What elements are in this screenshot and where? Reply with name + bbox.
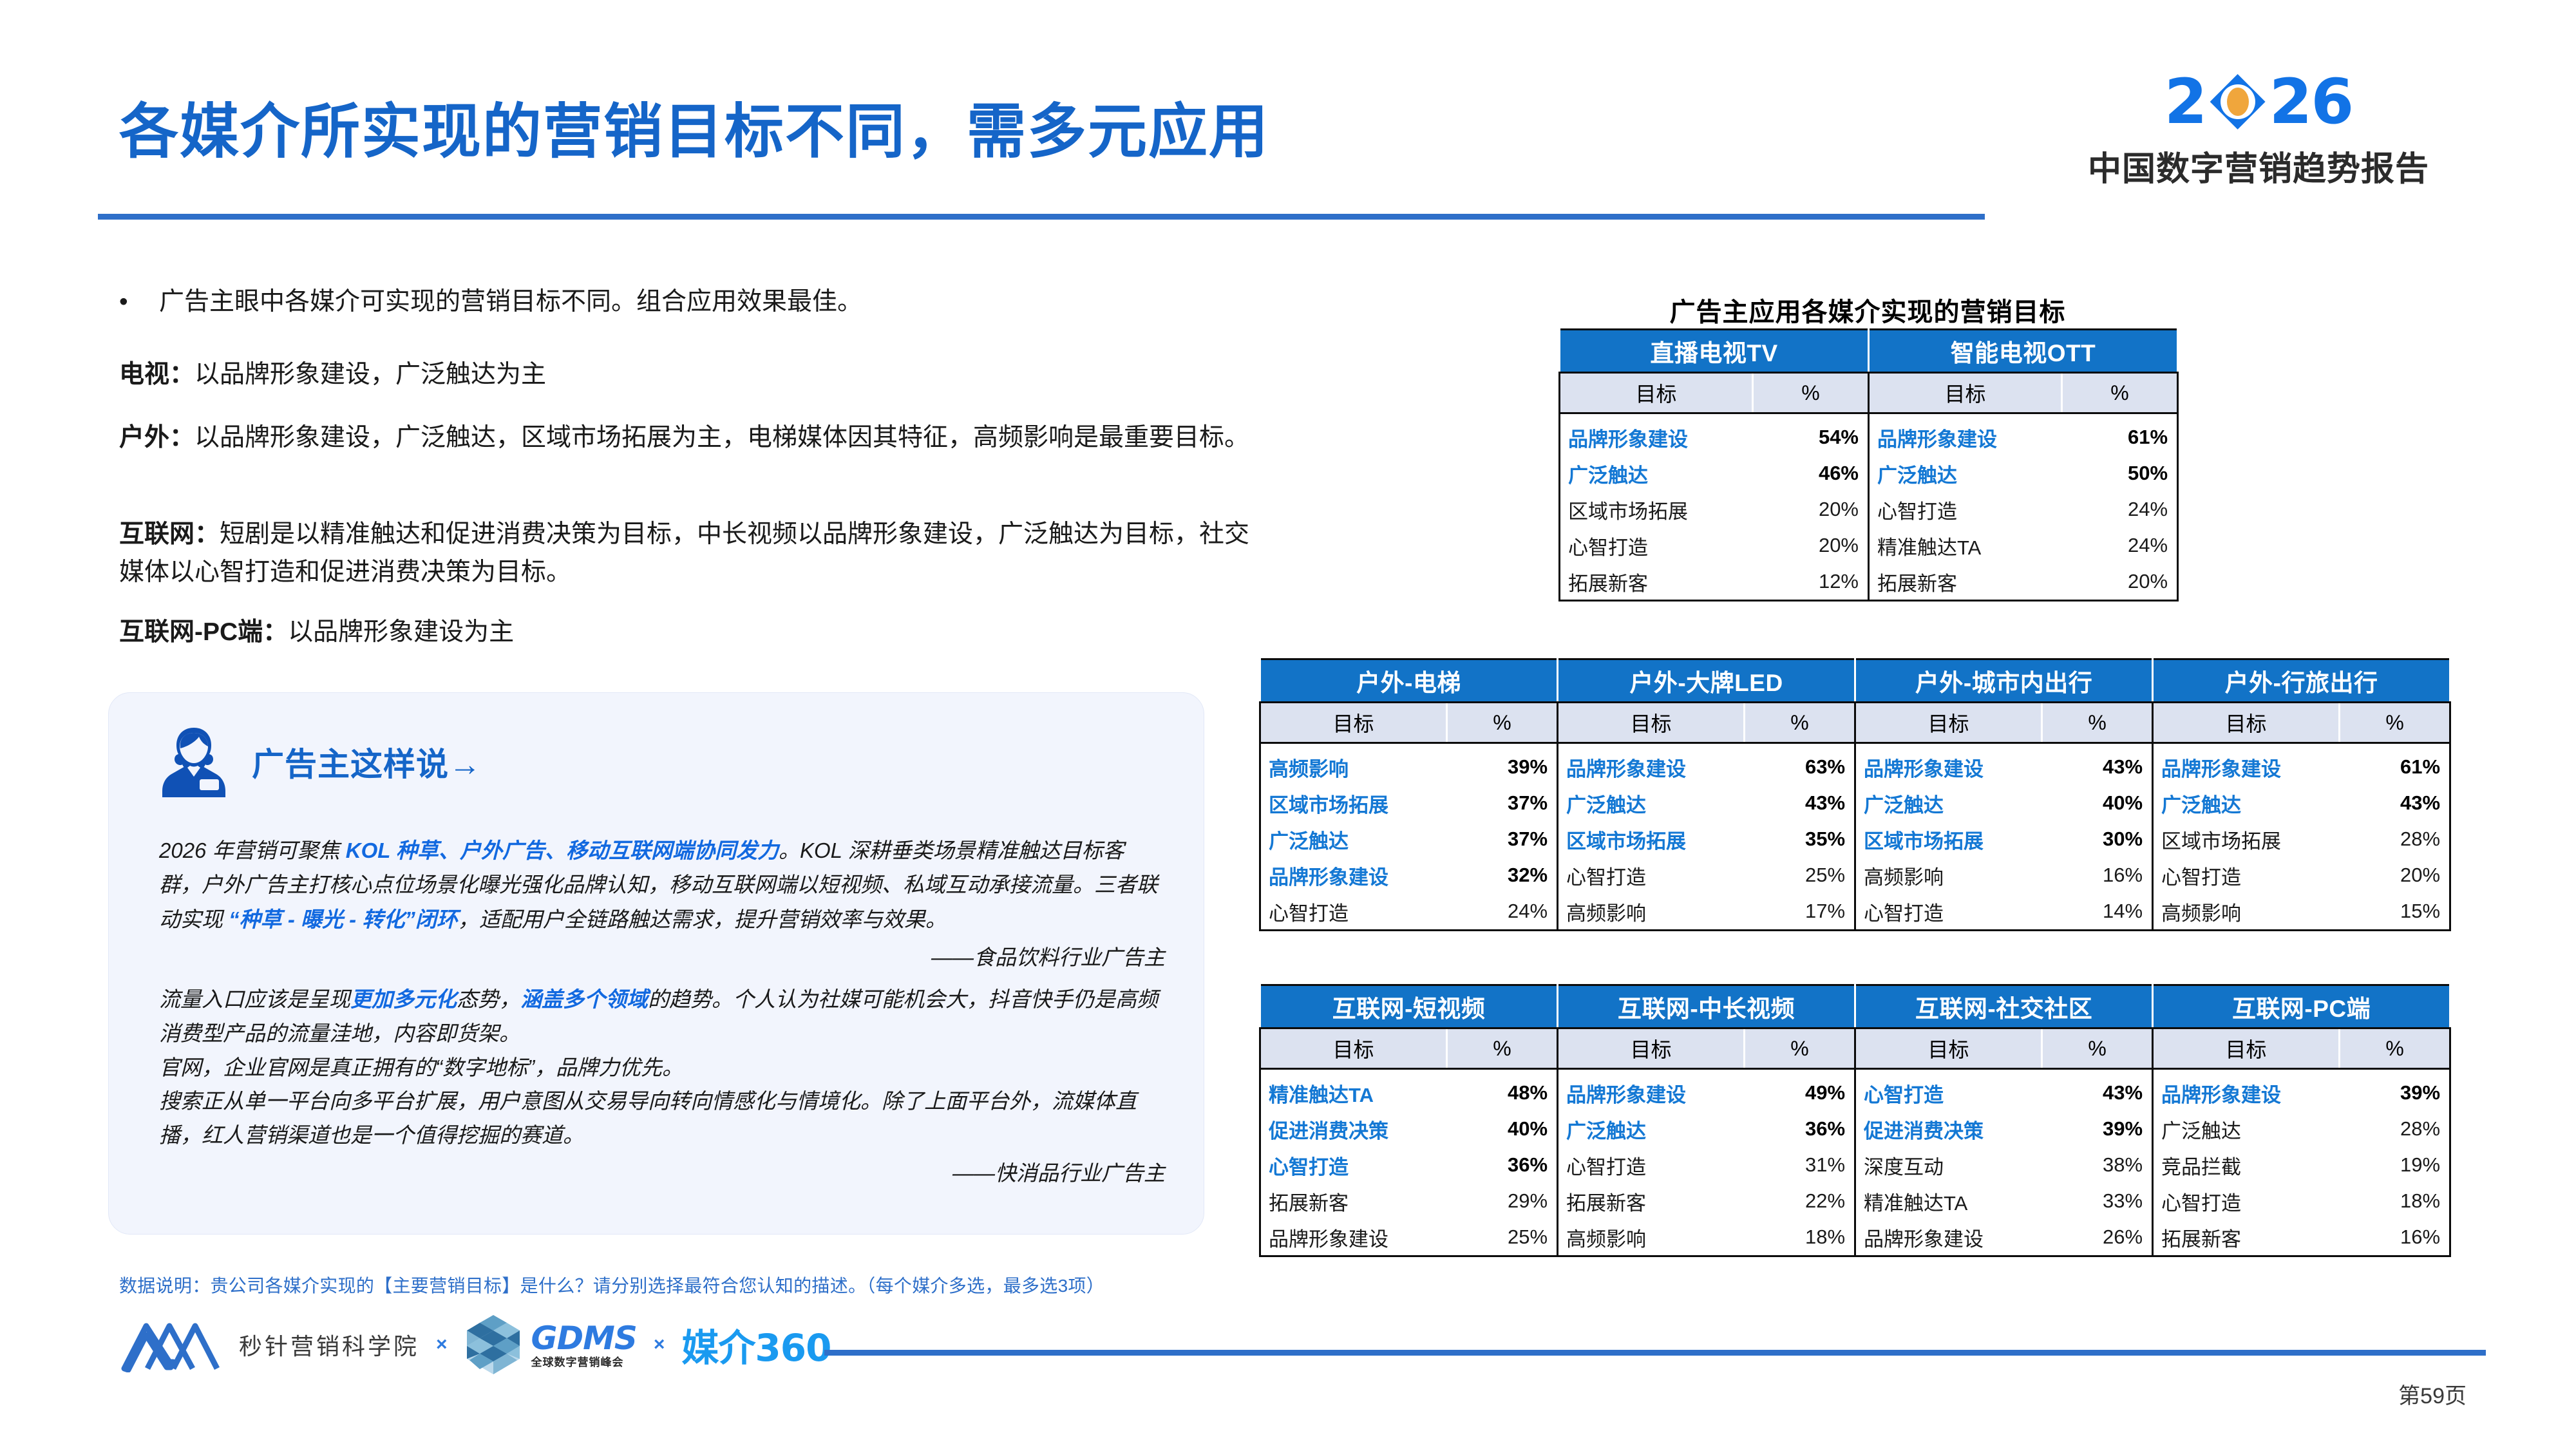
quote-card-header: 广告主这样说→ <box>159 724 482 800</box>
cell-percent: 20% <box>2062 563 2178 601</box>
cell-goal: 品牌形象建设 <box>1558 1069 1745 1112</box>
table-column-header-row: 目标%目标%目标%目标% <box>1260 703 2450 743</box>
cell-goal: 品牌形象建设 <box>1558 743 1745 786</box>
mediajie360-logo: 媒介360 <box>681 1318 831 1372</box>
cell-goal: 促进消费决策 <box>1260 1111 1447 1147</box>
cell-goal: 高频影响 <box>1558 1219 1745 1256</box>
cell-goal: 心智打造 <box>1855 893 2042 931</box>
cell-goal: 拓展新客 <box>1260 1183 1447 1219</box>
cell-percent: 46% <box>1753 455 1869 491</box>
cell-percent: 63% <box>1745 743 1855 786</box>
cell-goal: 品牌形象建设 <box>1260 857 1447 893</box>
column-header-goal: 目标 <box>1558 703 1745 743</box>
logo-separator-1: × <box>436 1334 448 1356</box>
paragraph-tv-label: 电视： <box>119 361 194 388</box>
cell-goal: 高频影响 <box>1855 857 2042 893</box>
table-row: 品牌形象建设25%高频影响18%品牌形象建设26%拓展新客16% <box>1260 1219 2450 1256</box>
cell-goal: 拓展新客 <box>1558 1183 1745 1219</box>
table-row: 区域市场拓展37%广泛触达43%广泛触达40%广泛触达43% <box>1260 785 2450 821</box>
lead-bullet-text: 广告主眼中各媒介可实现的营销目标不同。组合应用效果最佳。 <box>159 283 1253 321</box>
cell-percent: 40% <box>2042 785 2153 821</box>
cell-goal: 广泛触达 <box>2153 1111 2340 1147</box>
quote1-highlight-1: KOL 种草、户外广告、移动互联网端协同发力 <box>346 838 779 862</box>
column-header-pct: % <box>1753 373 1869 413</box>
brand-year-logo: 2 26 <box>2036 71 2481 133</box>
cell-percent: 20% <box>1753 527 1869 563</box>
cell-percent: 38% <box>2042 1147 2153 1183</box>
paragraph-pc: 互联网-PC端：以品牌形象建设为主 <box>119 613 1253 651</box>
cell-percent: 16% <box>2042 857 2153 893</box>
table-media-header: 互联网-社交社区 <box>1855 985 2153 1028</box>
column-header-pct: % <box>1745 1028 1855 1069</box>
cell-goal: 区域市场拓展 <box>1260 785 1447 821</box>
report-brand: 2 26 中国数字营销趋势报告 <box>2036 71 2481 190</box>
table-media-header-row: 户外-电梯户外-大牌LED户外-城市内出行户外-行旅出行 <box>1260 659 2450 703</box>
quote2-part-a: 流量入口应该是呈现 <box>159 987 350 1011</box>
table-media-header: 户外-电梯 <box>1260 659 1558 703</box>
quote-block-1: 2026 年营销可聚焦 KOL 种草、户外广告、移动互联网端协同发力。KOL 深… <box>159 833 1165 975</box>
table-media-header: 互联网-短视频 <box>1260 985 1558 1028</box>
cell-percent: 24% <box>1447 893 1558 931</box>
table-media-header-row: 互联网-短视频互联网-中长视频互联网-社交社区互联网-PC端 <box>1260 985 2450 1028</box>
cell-percent: 18% <box>1745 1219 1855 1256</box>
cell-percent: 29% <box>1447 1183 1558 1219</box>
cell-percent: 43% <box>2340 785 2450 821</box>
column-header-pct: % <box>2340 703 2450 743</box>
footer-logo-strip: 秒针营销科学院 × <box>119 1314 831 1376</box>
table-row: 品牌形象建设32%心智打造25%高频影响16%心智打造20% <box>1260 857 2450 893</box>
cell-goal: 品牌形象建设 <box>1869 413 2062 456</box>
cell-percent: 61% <box>2062 413 2178 456</box>
cell-goal: 广泛触达 <box>1558 1111 1745 1147</box>
bullet-dot-icon: • <box>119 283 128 321</box>
table-row: 心智打造20%精准触达TA24% <box>1560 527 2178 563</box>
table-media-header: 互联网-中长视频 <box>1558 985 1855 1028</box>
table-column-header-row: 目标%目标% <box>1560 373 2178 413</box>
cell-percent: 39% <box>2340 1069 2450 1112</box>
miaozhen-logo-icon <box>119 1317 222 1372</box>
column-header-goal: 目标 <box>1558 1028 1745 1069</box>
cell-goal: 拓展新客 <box>1560 563 1753 601</box>
footer-divider <box>824 1350 2486 1356</box>
cell-goal: 心智打造 <box>1260 893 1447 931</box>
paragraph-ooh: 户外：以品牌形象建设，广泛触达，区域市场拓展为主，电梯媒体因其特征，高频影响是最… <box>119 419 1253 457</box>
quote1-highlight-2: “种草 - 曝光 - 转化”闭环 <box>229 907 458 931</box>
cell-percent: 31% <box>1745 1147 1855 1183</box>
cell-percent: 19% <box>2340 1147 2450 1183</box>
column-header-goal: 目标 <box>1560 373 1753 413</box>
page-title: 各媒介所实现的营销目标不同，需多元应用 <box>119 84 1269 169</box>
slide-root: 各媒介所实现的营销目标不同，需多元应用 2 26 中国数字营销趋势报告 • 广告… <box>0 0 2576 1449</box>
brand-year-suffix: 26 <box>2269 71 2353 133</box>
table-internet-group: 互联网-短视频互联网-中长视频互联网-社交社区互联网-PC端目标%目标%目标%目… <box>1259 984 2451 1257</box>
title-divider <box>98 214 1985 220</box>
cell-goal: 高频影响 <box>1260 743 1447 786</box>
table-row: 精准触达TA48%品牌形象建设49%心智打造43%品牌形象建设39% <box>1260 1069 2450 1112</box>
cell-percent: 16% <box>2340 1219 2450 1256</box>
gdms-cube-icon <box>464 1314 522 1376</box>
cell-goal: 精准触达TA <box>1855 1183 2042 1219</box>
cell-goal: 心智打造 <box>1855 1069 2042 1112</box>
cell-goal: 拓展新客 <box>1869 563 2062 601</box>
cell-goal: 心智打造 <box>1869 491 2062 527</box>
cell-goal: 深度互动 <box>1855 1147 2042 1183</box>
data-source-note: 数据说明：贵公司各媒介实现的【主要营销目标】是什么？请分别选择最符合您认知的描述… <box>119 1272 1104 1298</box>
cell-percent: 20% <box>2340 857 2450 893</box>
quote-card-title: 广告主这样说→ <box>252 739 482 785</box>
cell-goal: 精准触达TA <box>1260 1069 1447 1112</box>
table-row: 促进消费决策40%广泛触达36%促进消费决策39%广泛触达28% <box>1260 1111 2450 1147</box>
cell-percent: 43% <box>2042 1069 2153 1112</box>
cell-percent: 37% <box>1447 785 1558 821</box>
quote-block-2: 流量入口应该是呈现更加多元化态势，涵盖多个领域的趋势。个人认为社媒可能机会大，抖… <box>159 983 1165 1191</box>
cell-goal: 区域市场拓展 <box>1558 821 1745 857</box>
miaozhen-name: 秒针营销科学院 <box>239 1328 419 1361</box>
cell-goal: 广泛触达 <box>1260 821 1447 857</box>
table-row: 心智打造36%心智打造31%深度互动38%竞品拦截19% <box>1260 1147 2450 1183</box>
cell-percent: 20% <box>1753 491 1869 527</box>
column-header-pct: % <box>1447 703 1558 743</box>
cell-percent: 48% <box>1447 1069 1558 1112</box>
cell-percent: 30% <box>2042 821 2153 857</box>
table-media-header: 智能电视OTT <box>1869 330 2178 373</box>
advertiser-quote-card: 广告主这样说→ 2026 年营销可聚焦 KOL 种草、户外广告、移动互联网端协同… <box>108 692 1204 1235</box>
table-media-header: 户外-行旅出行 <box>2153 659 2450 703</box>
quote2-line-2: 官网，企业官网是真正拥有的“数字地标”，品牌力优先。 <box>159 1051 1165 1085</box>
cell-percent: 37% <box>1447 821 1558 857</box>
table-media-header: 直播电视TV <box>1560 330 1869 373</box>
cell-goal: 品牌形象建设 <box>2153 1069 2340 1112</box>
table-ooh-group: 户外-电梯户外-大牌LED户外-城市内出行户外-行旅出行目标%目标%目标%目标%… <box>1259 658 2451 931</box>
cell-goal: 区域市场拓展 <box>1855 821 2042 857</box>
table-media-header: 户外-大牌LED <box>1558 659 1855 703</box>
advertiser-avatar-icon <box>159 724 229 800</box>
quote2-highlight-1: 更加多元化 <box>350 987 457 1011</box>
cell-goal: 心智打造 <box>2153 857 2340 893</box>
cell-percent: 18% <box>2340 1183 2450 1219</box>
cell-goal: 区域市场拓展 <box>1560 491 1753 527</box>
cell-goal: 促进消费决策 <box>1855 1111 2042 1147</box>
table-row: 拓展新客12%拓展新客20% <box>1560 563 2178 601</box>
quote2-part-b: 态势， <box>457 987 520 1011</box>
table-row: 心智打造24%高频影响17%心智打造14%高频影响15% <box>1260 893 2450 931</box>
cell-goal: 竞品拦截 <box>2153 1147 2340 1183</box>
cell-percent: 43% <box>2042 743 2153 786</box>
cell-goal: 品牌形象建设 <box>1260 1219 1447 1256</box>
cell-percent: 15% <box>2340 893 2450 931</box>
gdms-wordmark: GDMS <box>531 1322 637 1354</box>
table-row: 拓展新客29%拓展新客22%精准触达TA33%心智打造18% <box>1260 1183 2450 1219</box>
cell-percent: 36% <box>1745 1111 1855 1147</box>
cell-percent: 28% <box>2340 1111 2450 1147</box>
quote2-line-3: 搜索正从单一平台向多平台扩展，用户意图从交易导向转向情感化与情境化。除了上面平台… <box>159 1084 1165 1153</box>
cell-percent: 40% <box>1447 1111 1558 1147</box>
cell-goal: 广泛触达 <box>1869 455 2062 491</box>
column-header-pct: % <box>2062 373 2178 413</box>
column-header-goal: 目标 <box>1260 703 1447 743</box>
quote2-attribution: ——快消品行业广告主 <box>159 1157 1165 1191</box>
cell-percent: 26% <box>2042 1219 2153 1256</box>
cell-percent: 28% <box>2340 821 2450 857</box>
eye-diamond-icon <box>2210 74 2266 129</box>
cell-goal: 广泛触达 <box>1855 785 2042 821</box>
cell-goal: 品牌形象建设 <box>2153 743 2340 786</box>
table-media-header: 户外-城市内出行 <box>1855 659 2153 703</box>
column-header-goal: 目标 <box>1855 1028 2042 1069</box>
cell-goal: 拓展新客 <box>2153 1219 2340 1256</box>
tables-title: 广告主应用各媒介实现的营销目标 <box>1558 291 2177 328</box>
cell-percent: 33% <box>2042 1183 2153 1219</box>
cell-percent: 43% <box>1745 785 1855 821</box>
cell-goal: 品牌形象建设 <box>1560 413 1753 456</box>
table-row: 广泛触达46%广泛触达50% <box>1560 455 2178 491</box>
table-row: 区域市场拓展20%心智打造24% <box>1560 491 2178 527</box>
cell-goal: 品牌形象建设 <box>1855 743 2042 786</box>
column-header-pct: % <box>2042 1028 2153 1069</box>
paragraph-internet-label: 互联网： <box>119 520 220 548</box>
paragraph-ooh-text: 以品牌形象建设，广泛触达，区域市场拓展为主，电梯媒体因其特征，高频影响是最重要目… <box>194 424 1249 451</box>
brand-subtitle: 中国数字营销趋势报告 <box>2036 142 2481 190</box>
paragraph-internet: 互联网：短剧是以精准触达和促进消费决策为目标，中长视频以品牌形象建设，广泛触达为… <box>119 515 1253 592</box>
cell-percent: 24% <box>2062 527 2178 563</box>
cell-goal: 高频影响 <box>1558 893 1745 931</box>
cell-goal: 心智打造 <box>2153 1183 2340 1219</box>
table-row: 高频影响39%品牌形象建设63%品牌形象建设43%品牌形象建设61% <box>1260 743 2450 786</box>
paragraph-tv-text: 以品牌形象建设，广泛触达为主 <box>194 361 546 388</box>
cell-percent: 50% <box>2062 455 2178 491</box>
page-number: 第59页 <box>2398 1378 2467 1410</box>
gdms-text: GDMS 全球数字营销峰会 <box>531 1322 637 1368</box>
cell-goal: 品牌形象建设 <box>1855 1219 2042 1256</box>
cell-percent: 39% <box>1447 743 1558 786</box>
cell-percent: 36% <box>1447 1147 1558 1183</box>
quote1-attribution: ——食品饮料行业广告主 <box>159 940 1165 974</box>
cell-percent: 49% <box>1745 1069 1855 1112</box>
cell-percent: 17% <box>1745 893 1855 931</box>
paragraph-pc-label: 互联网-PC端： <box>119 618 288 646</box>
paragraph-tv: 电视：以品牌形象建设，广泛触达为主 <box>119 355 1253 393</box>
cell-percent: 14% <box>2042 893 2153 931</box>
paragraph-pc-text: 以品牌形象建设为主 <box>288 618 514 646</box>
logo-separator-2: × <box>654 1334 665 1356</box>
cell-percent: 25% <box>1447 1219 1558 1256</box>
cell-goal: 广泛触达 <box>1560 455 1753 491</box>
cell-percent: 24% <box>2062 491 2178 527</box>
column-header-pct: % <box>1447 1028 1558 1069</box>
cell-goal: 区域市场拓展 <box>2153 821 2340 857</box>
cell-goal: 心智打造 <box>1260 1147 1447 1183</box>
paragraph-ooh-label: 户外： <box>119 424 194 451</box>
cell-goal: 高频影响 <box>2153 893 2340 931</box>
cell-goal: 心智打造 <box>1558 857 1745 893</box>
table-row: 广泛触达37%区域市场拓展35%区域市场拓展30%区域市场拓展28% <box>1260 821 2450 857</box>
cell-percent: 22% <box>1745 1183 1855 1219</box>
quote1-part-a: 2026 年营销可聚焦 <box>159 838 346 862</box>
column-header-pct: % <box>2340 1028 2450 1069</box>
column-header-goal: 目标 <box>1260 1028 1447 1069</box>
gdms-logo: GDMS 全球数字营销峰会 <box>464 1314 637 1376</box>
cell-percent: 12% <box>1753 563 1869 601</box>
cell-percent: 32% <box>1447 857 1558 893</box>
column-header-goal: 目标 <box>1855 703 2042 743</box>
column-header-pct: % <box>1745 703 1855 743</box>
column-header-goal: 目标 <box>1869 373 2062 413</box>
lead-bullet: • 广告主眼中各媒介可实现的营销目标不同。组合应用效果最佳。 <box>119 283 1253 321</box>
column-header-goal: 目标 <box>2153 703 2340 743</box>
cell-goal: 心智打造 <box>1558 1147 1745 1183</box>
cell-percent: 61% <box>2340 743 2450 786</box>
cell-percent: 35% <box>1745 821 1855 857</box>
cell-goal: 广泛触达 <box>1558 785 1745 821</box>
cell-goal: 心智打造 <box>1560 527 1753 563</box>
quote2-highlight-2: 涵盖多个领域 <box>520 987 648 1011</box>
column-header-goal: 目标 <box>2153 1028 2340 1069</box>
brand-year-prefix: 2 <box>2164 71 2206 133</box>
paragraph-internet-text: 短剧是以精准触达和促进消费决策为目标，中长视频以品牌形象建设，广泛触达为目标，社… <box>119 520 1249 586</box>
cell-percent: 25% <box>1745 857 1855 893</box>
quote1-part-c: ，适配用户全链路触达需求，提升营销效率与效果。 <box>458 907 947 931</box>
table-row: 品牌形象建设54%品牌形象建设61% <box>1560 413 2178 456</box>
table-media-header: 互联网-PC端 <box>2153 985 2450 1028</box>
table-column-header-row: 目标%目标%目标%目标% <box>1260 1028 2450 1069</box>
cell-percent: 39% <box>2042 1111 2153 1147</box>
table-media-header-row: 直播电视TV智能电视OTT <box>1560 330 2178 373</box>
cell-percent: 54% <box>1753 413 1869 456</box>
gdms-tagline: 全球数字营销峰会 <box>531 1357 637 1368</box>
cell-goal: 精准触达TA <box>1869 527 2062 563</box>
table-tv-group: 直播电视TV智能电视OTT目标%目标%品牌形象建设54%品牌形象建设61%广泛触… <box>1558 328 2179 601</box>
cell-goal: 广泛触达 <box>2153 785 2340 821</box>
column-header-pct: % <box>2042 703 2153 743</box>
